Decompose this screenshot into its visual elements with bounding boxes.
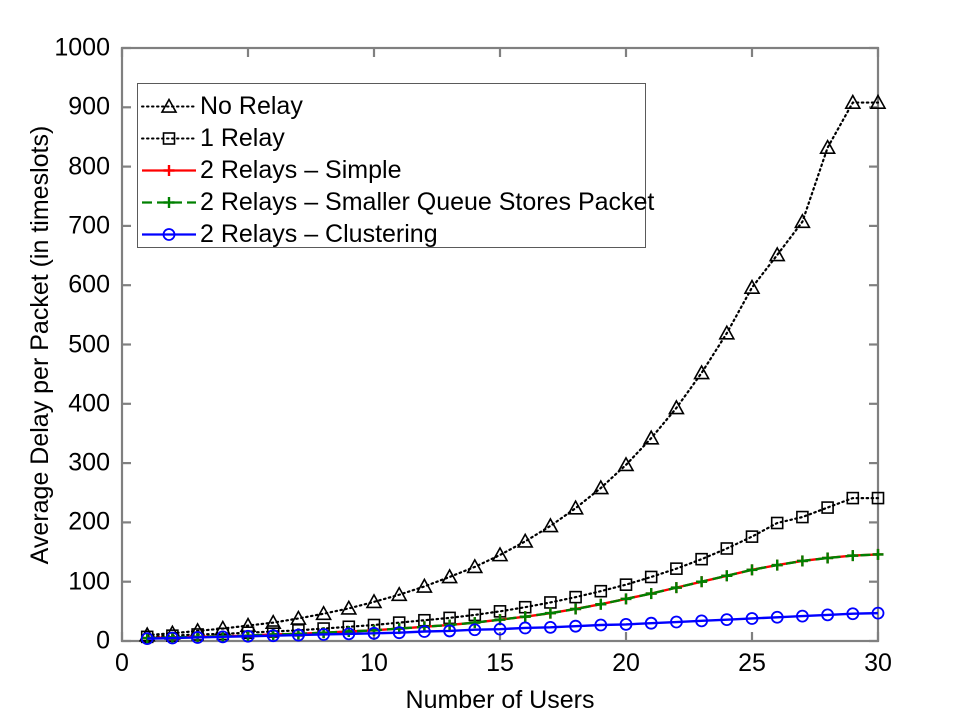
data-point-marker — [847, 550, 858, 561]
x-axis-label: Number of Users — [406, 686, 595, 715]
data-point-marker — [164, 197, 175, 208]
data-point-marker — [342, 601, 356, 614]
legend-label: 2 Relays – Smaller Queue Stores Packet — [200, 190, 654, 215]
chart-figure: 01002003004005006007008009001000 0510152… — [0, 0, 969, 722]
data-point-marker — [417, 579, 431, 592]
data-point-marker — [772, 560, 783, 571]
legend-label: No Relay — [200, 94, 303, 119]
data-point-marker — [621, 593, 632, 604]
y-tick-label: 100 — [0, 567, 110, 596]
x-tick-label: 10 — [360, 649, 388, 678]
y-tick-label: 900 — [0, 93, 110, 122]
legend: No Relay1 Relay2 Relays – Simple2 Relays… — [137, 83, 646, 248]
legend-marker-plus-icon — [138, 154, 200, 187]
y-tick-label: 700 — [0, 211, 110, 240]
data-point-marker — [696, 576, 707, 587]
data-point-marker — [646, 588, 657, 599]
x-tick-label: 0 — [115, 649, 129, 678]
x-tick-label: 15 — [486, 649, 514, 678]
data-point-marker — [545, 608, 556, 619]
data-point-marker — [747, 531, 758, 542]
x-tick-label: 5 — [241, 649, 255, 678]
data-point-marker — [317, 607, 331, 620]
data-point-marker — [873, 549, 884, 560]
data-point-marker — [164, 165, 175, 176]
y-tick-label: 1000 — [0, 34, 110, 63]
data-point-marker — [621, 579, 632, 590]
x-tick-label: 20 — [612, 649, 640, 678]
data-point-marker — [822, 552, 833, 563]
y-tick-label: 0 — [0, 627, 110, 656]
data-point-marker — [671, 582, 682, 593]
legend-marker-plus-icon — [138, 186, 200, 219]
legend-marker-triangle-icon — [138, 90, 200, 123]
y-tick-label: 200 — [0, 508, 110, 537]
legend-item: 1 Relay — [138, 122, 285, 155]
legend-item: 2 Relays – Smaller Queue Stores Packet — [138, 186, 654, 219]
data-point-marker — [747, 564, 758, 575]
y-tick-label: 300 — [0, 449, 110, 478]
x-tick-label: 30 — [864, 649, 892, 678]
legend-marker-square-icon — [138, 122, 200, 155]
y-tick-label: 800 — [0, 152, 110, 181]
legend-label: 1 Relay — [200, 126, 285, 151]
data-point-marker — [570, 603, 581, 614]
x-tick-label: 25 — [738, 649, 766, 678]
legend-item: 2 Relays – Clustering — [138, 218, 438, 251]
y-axis-label: Average Delay per Packet (in timeslots) — [26, 125, 55, 564]
legend-label: 2 Relays – Simple — [200, 158, 401, 183]
data-point-marker — [595, 599, 606, 610]
data-point-marker — [721, 570, 732, 581]
legend-marker-circle-icon — [138, 218, 200, 251]
legend-label: 2 Relays – Clustering — [200, 222, 438, 247]
y-tick-label: 500 — [0, 330, 110, 359]
legend-item: No Relay — [138, 90, 303, 123]
y-tick-label: 400 — [0, 389, 110, 418]
y-tick-label: 600 — [0, 271, 110, 300]
legend-item: 2 Relays – Simple — [138, 154, 401, 187]
data-point-marker — [797, 555, 808, 566]
